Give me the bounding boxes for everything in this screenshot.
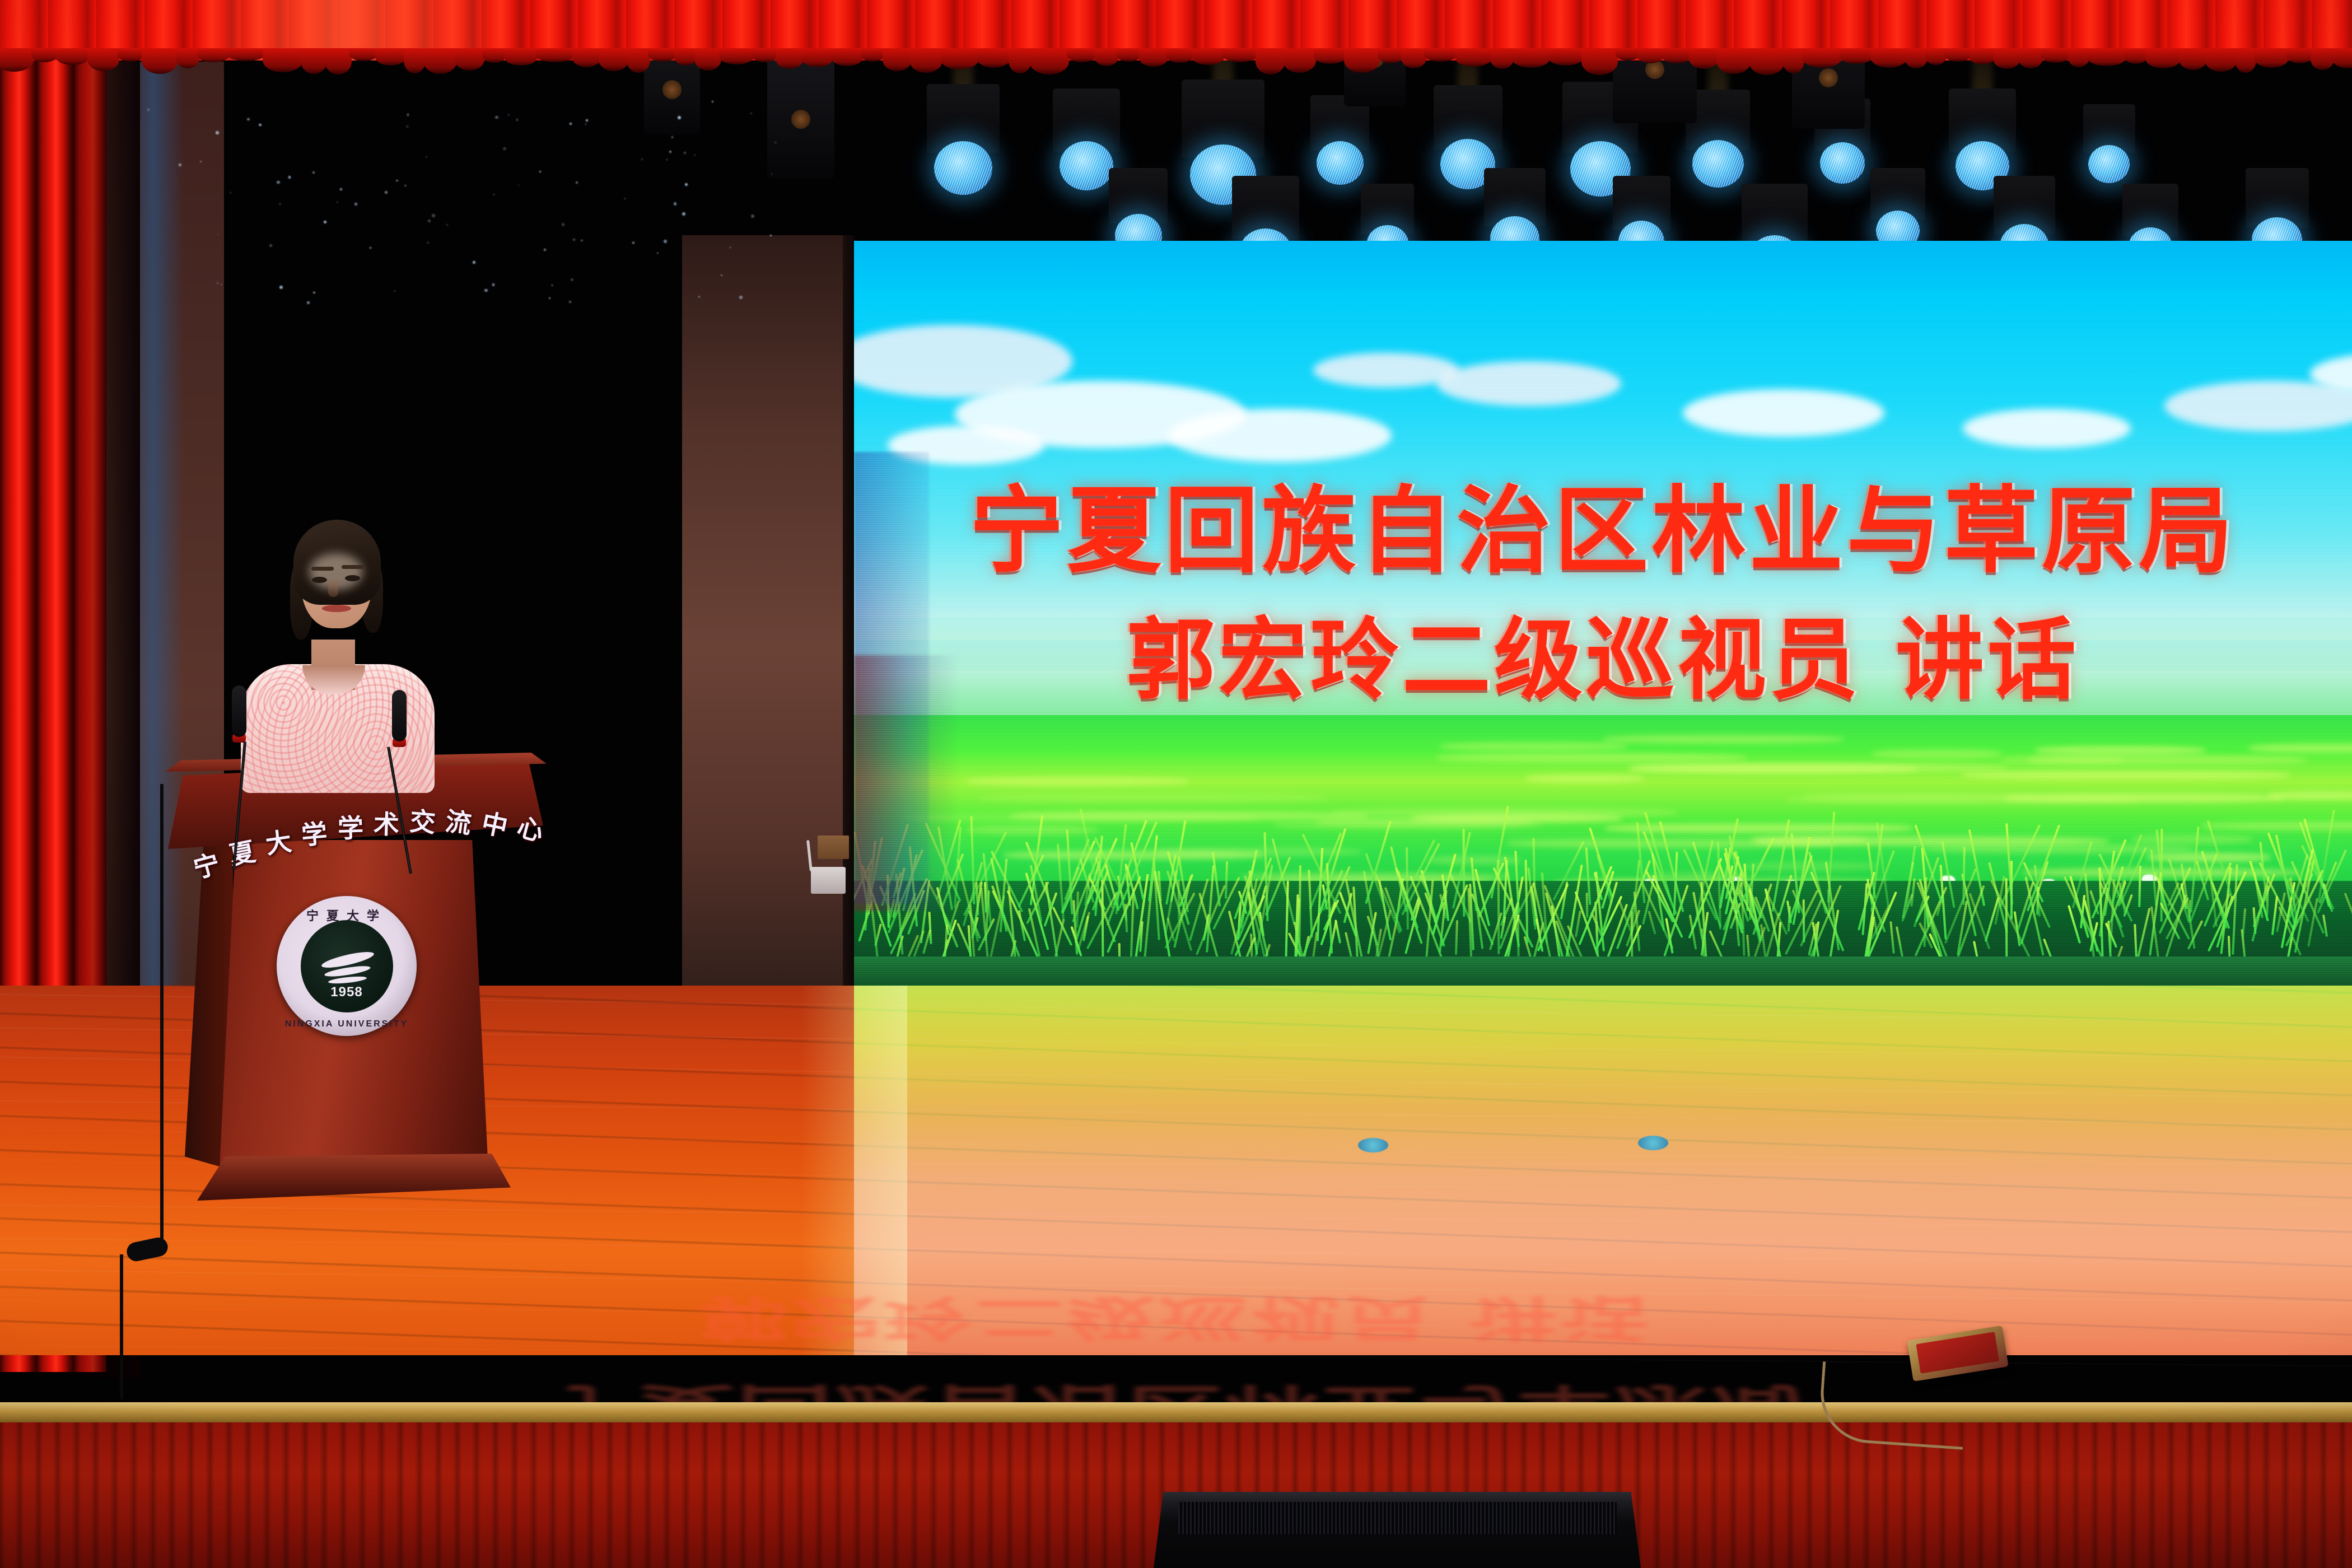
valance-scallop [831,48,863,66]
fixture-lens-icon [1317,141,1364,184]
fixture-badge-icon [662,80,682,99]
truss-glint [770,235,772,236]
truss-glint [484,289,487,292]
valance-scallop [1192,48,1225,65]
speaker-brow-right [342,565,364,569]
led-field-streak [2248,744,2352,753]
valance-scallop [1944,48,1971,62]
valance-scallop [1782,48,1804,73]
truss-glint [221,284,222,285]
valance-scallop [263,48,303,72]
stage-edge-monitor-screen [1916,1332,1999,1374]
led-cloud [1683,389,1884,437]
led-video-wall: 宁夏回族自治区林业与草原局 郭宏玲二级巡视员 讲话 [854,241,2352,994]
valance-scallop [2235,48,2256,73]
podium-cable-upper [160,784,164,1243]
valance-scallop [482,48,506,63]
led-headline-line-2: 郭宏玲二级巡视员 讲话 [1127,588,2079,716]
speaker-mouth [322,605,351,612]
valance-scallop [1749,48,1785,75]
valance-scallop [883,48,912,71]
floor-inset-light-1 [1358,1138,1388,1152]
led-field-streak [966,777,1188,786]
emblem-founding-year: 1958 [301,984,393,1000]
valance-scallop [694,48,721,71]
valance-scallop [31,48,58,62]
valance-scallop [1029,48,1069,74]
valance-scalloped-edge [0,48,2352,81]
led-grass-blade [2010,861,2013,920]
truss-glint [669,151,671,153]
valance-scallop [301,48,327,74]
valance-scallop [2205,48,2237,72]
led-field-streak [1962,771,2290,780]
truss-glint [503,147,506,150]
truss-glint [712,101,713,102]
podium-cable-lower [120,1254,123,1400]
emblem-center-disc: 1958 [301,920,393,1012]
truss-glint [585,124,586,125]
valance-scallop [55,48,90,65]
led-headline-line-1: 宁夏回族自治区林业与草原局 [970,455,2237,591]
valance-scallop [1662,48,1691,63]
truss-glint [570,123,572,125]
university-emblem: 宁夏大学 1958 NINGXIA UNIVERSITY [277,896,417,1036]
speaker-nose [328,580,338,597]
truss-glint [730,247,731,248]
valance-scallop [2068,48,2089,67]
wall-bracket [818,836,849,859]
truss-glint [624,198,626,199]
valance-scallop [1424,48,1457,62]
led-field-streak [1525,774,1644,783]
speaker-brow-left [311,567,334,571]
truss-glint [576,181,578,184]
valance-scallop [142,48,178,74]
truss-glint [664,240,667,243]
truss-glint [218,234,219,235]
truss-glint [217,282,218,283]
stage-photo: 宁夏回族自治区林业与草原局 郭宏玲二级巡视员 讲话 郭宏玲二级巡视员 讲话 宁夏… [0,0,2352,1568]
valance-scallop [1009,48,1032,73]
valance-scallop [2041,48,2070,63]
valance-scallop [423,48,457,74]
valance-scallop [1314,48,1346,64]
fixture-lens-icon [1820,142,1865,184]
valance-scallop [349,48,377,61]
valance-scallop [909,48,942,73]
valance-scallop [0,48,34,72]
valance-scallop [227,48,265,61]
valance-scallop [1689,48,1719,69]
led-field-streak [2028,755,2307,764]
valance-scallop [776,48,804,69]
valance-scallop [2018,48,2043,68]
truss-glint [539,171,541,172]
valance-scallop [2332,48,2352,68]
valance-scallop [1344,48,1380,73]
led-grass-blade [2005,878,2008,969]
fixture-lens-icon [2088,145,2130,183]
truss-glint [678,116,681,119]
valance-scallop [1993,48,2020,69]
valance-scallop [1871,48,1907,68]
led-field-streak [1436,753,1747,762]
truss-glint [269,244,272,247]
valance-scallop [1616,48,1640,60]
truss-glint [657,253,658,254]
stage-light-fixture [1870,168,1925,251]
truss-glint [495,116,498,119]
valance-scallop [455,48,484,71]
fixture-badge-icon [791,110,810,129]
led-headline-line-2-container: 郭宏玲二级巡视员 讲话 [854,588,2352,716]
valance-scallop [404,48,426,73]
truss-glint [698,296,700,298]
fixture-lens-icon [1692,140,1744,188]
valance-scallop [176,48,199,68]
valance-scallop [674,48,697,66]
valance-scallop [1067,48,1097,62]
led-cloud [1313,353,1459,388]
fixture-lens-icon [1060,141,1113,190]
valance-scallop [2254,48,2289,68]
valance-scallop [977,48,1011,68]
valance-scallop [2311,48,2334,70]
speaker-eye-left [312,577,327,583]
valance-scallop [1905,48,1928,68]
floor-wedge-monitor [1154,1492,1641,1568]
valance-scallop [801,48,833,67]
valance-scallop [2286,48,2313,63]
microphone-right-capsule [392,690,407,741]
truss-glint [508,114,509,115]
valance-scallop [2124,48,2148,64]
stage-light-fixture [2083,104,2135,183]
truss-glint [573,239,575,241]
led-headline-line-1-container: 宁夏回族自治区林业与草原局 [854,455,2352,591]
led-field-streak [1315,817,1532,826]
truss-glint [279,286,283,289]
led-cloud [1168,409,1392,462]
floor-text-reflection-1: 郭宏玲二级巡视员 讲话 [699,1287,1652,1357]
led-field-streak [1872,749,2001,758]
valance-scallop [1283,48,1316,73]
led-cloud [1436,361,1621,406]
valance-scallop [1455,48,1492,67]
truss-glint [405,185,407,186]
led-grass-blade [1497,860,1500,954]
valance-scallop [627,48,650,73]
truss-glint [750,113,752,114]
led-field-streak [1440,742,1627,751]
stage-light-fixture [1310,95,1369,185]
stage-light-fixture [927,84,1000,195]
led-field-streak [967,825,1098,834]
truss-glint [493,194,494,195]
truss-glint [288,176,291,178]
truss-glint [340,188,342,190]
truss-glint [427,242,429,244]
valance-scallop [197,48,230,62]
monitor-grille [1178,1502,1617,1534]
truss-glint [518,185,519,186]
led-field-streak [2132,835,2252,844]
led-field-streak [2005,794,2285,802]
valance-scallop [572,48,601,67]
valance-scallop [2145,48,2181,68]
valance-scallop [1548,48,1584,66]
valance-scallop [2087,48,2126,66]
valance-scallop [1969,48,1995,64]
valance-scallop [1581,48,1618,75]
led-field-streak [1803,792,2035,801]
valance-scallop [1401,48,1426,68]
valance-scallop [1095,48,1118,66]
valance-scallop [1925,48,1947,65]
led-field-streak [1632,763,2007,772]
valance-scallop [1116,48,1141,62]
valance-scallop [375,48,406,66]
truss-glint [407,114,409,116]
floor-inset-light-2 [1638,1136,1668,1150]
valance-scallop [1490,48,1514,69]
valance-scallop [504,48,538,66]
valance-scallop [1166,48,1194,63]
valance-scallop [2179,48,2207,70]
valance-scallop [535,48,575,62]
wireless-router [811,867,846,894]
truss-glint [473,261,475,264]
valance-scallop [117,48,144,62]
valance-scallop [1716,48,1751,74]
led-field-streak [979,794,1327,802]
valance-scallop [1840,48,1873,64]
led-field-streak [2035,746,2205,755]
truss-glint [370,247,371,249]
valance-scallop [1139,48,1168,67]
valance-scallop [1802,48,1842,68]
truss-glint [552,284,553,286]
speaker-eye-right [345,575,360,581]
truss-glint [216,131,219,134]
truss-glint [200,161,202,162]
valance-scallop [1222,48,1258,62]
led-cloud [1963,409,2131,448]
valance-scallop [1378,48,1403,63]
valance-scallop [325,48,352,74]
emblem-english-name: NINGXIA UNIVERSITY [277,1019,417,1029]
truss-glint [544,249,546,251]
truss-glint [666,159,668,160]
valance-scallop [752,48,778,62]
led-field-streak [1603,735,1844,744]
led-field-streak [2147,853,2271,862]
valance-scallop [599,48,629,71]
truss-glint [432,214,435,217]
truss-glint [492,283,494,286]
valance-scallop [87,48,119,71]
truss-glint [684,152,686,154]
truss-glint [739,296,743,299]
valance-scallop [648,48,676,62]
valance-scallop [1637,48,1664,63]
valance-scallop [719,48,754,64]
microphone-left-capsule [232,685,246,737]
valance-scallop [940,48,979,69]
valance-scallop [1256,48,1285,74]
valance-scallop [861,48,885,62]
emblem-swoosh-3 [328,975,367,984]
fixture-lens-icon [934,141,992,195]
valance-scallop [1511,48,1550,68]
